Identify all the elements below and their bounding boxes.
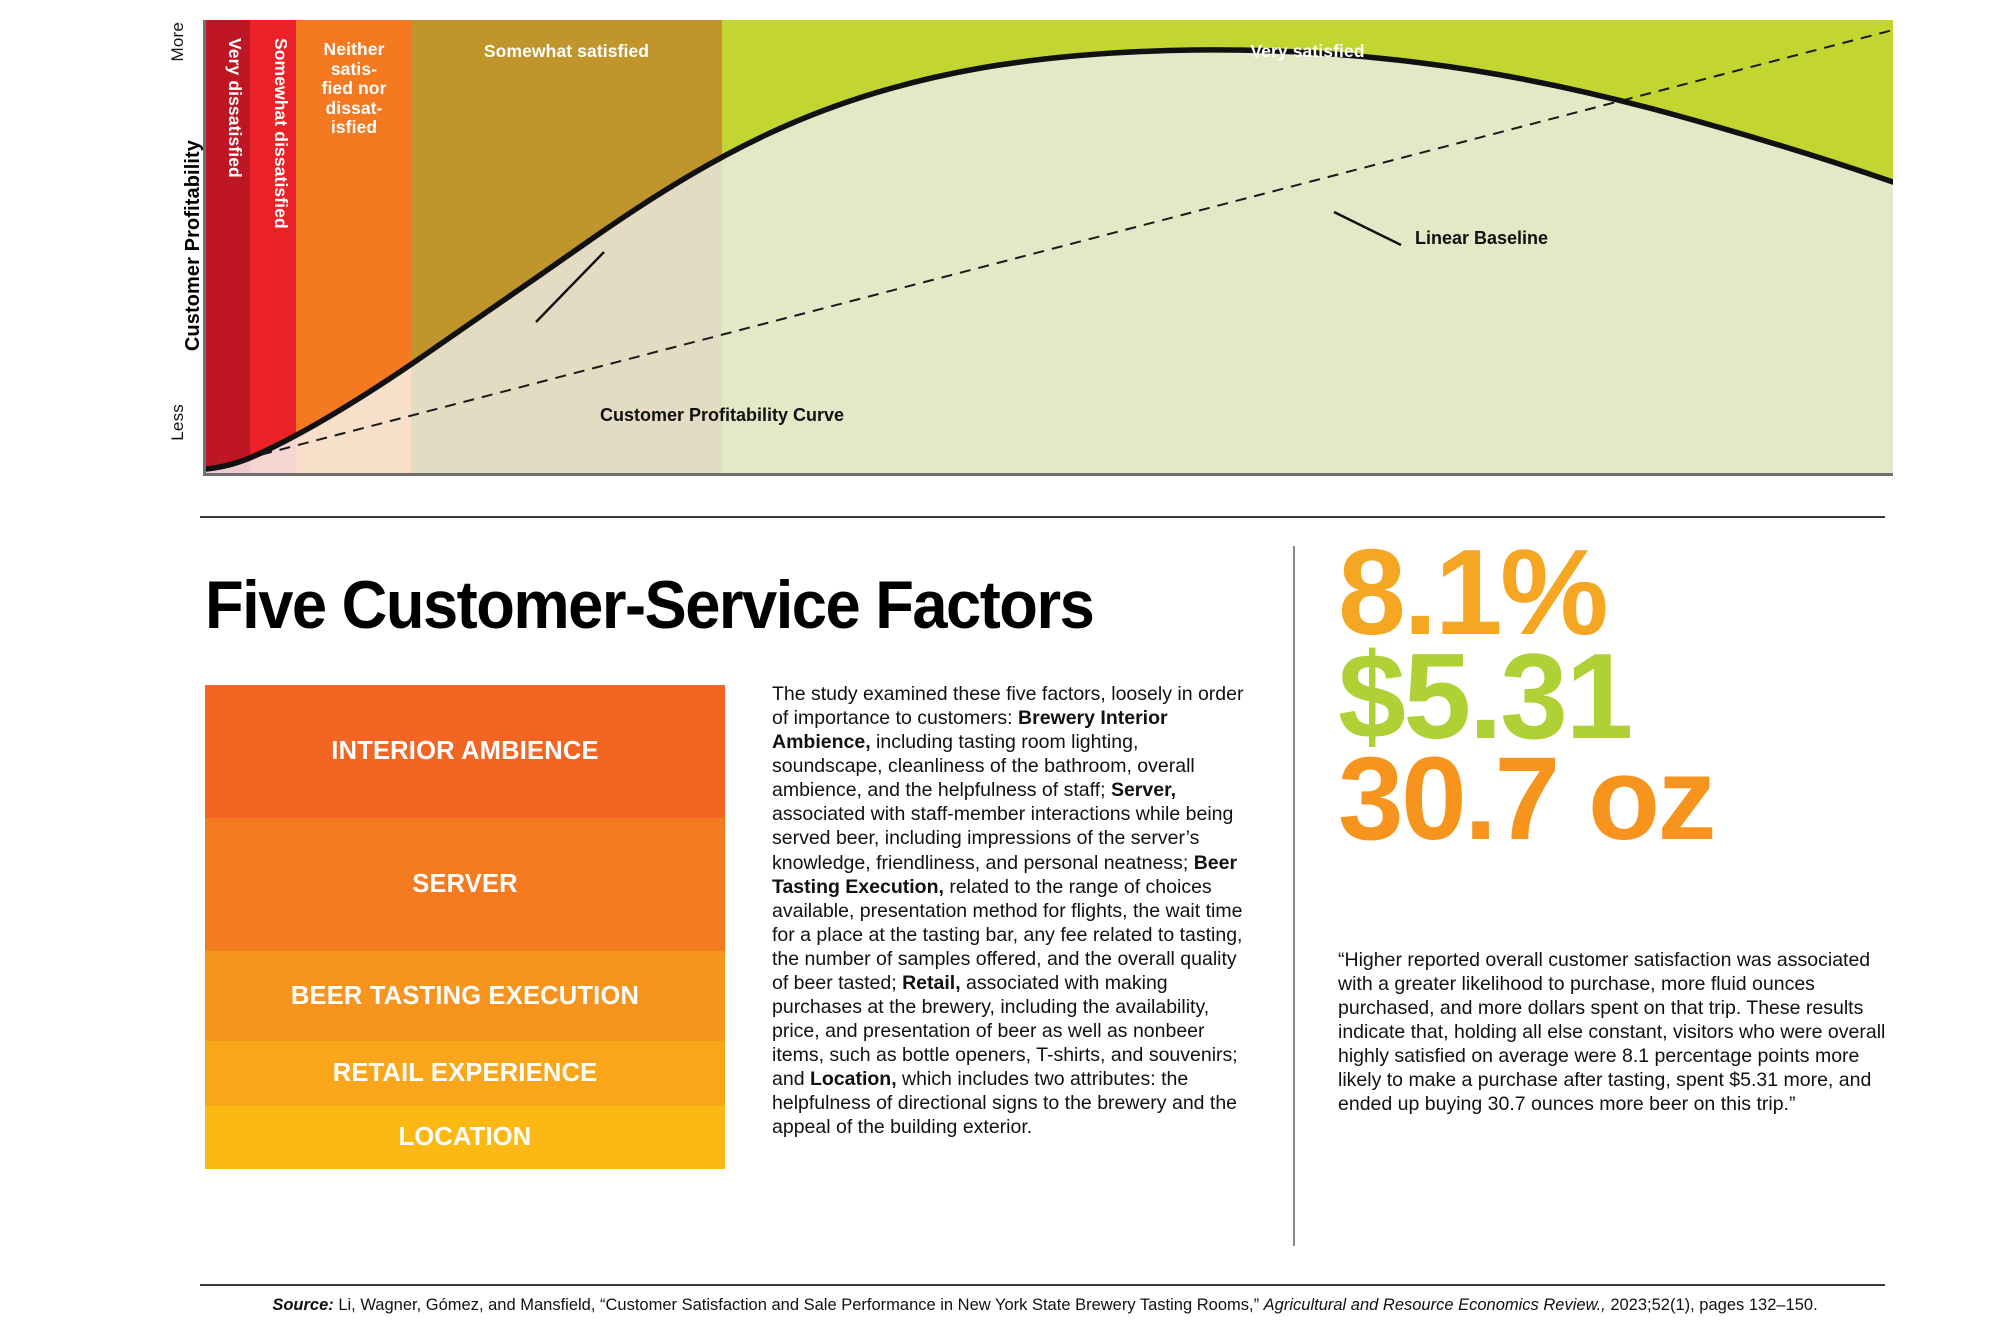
factor-bar-stack: INTERIOR AMBIENCE SERVER BEER TASTING EX… (205, 685, 725, 1169)
factor-label: BEER TASTING EXECUTION (291, 982, 639, 1011)
key-statistics: 8.1% $5.31 30.7 oz (1338, 540, 1958, 849)
body-copy: The study examined these five factors, l… (772, 682, 1252, 1139)
stat-ounces: 30.7 oz (1338, 749, 1958, 850)
band-very-dissatisfied (206, 20, 250, 473)
factor-label: RETAIL EXPERIENCE (333, 1059, 598, 1088)
infographic-page: More Less Customer Profitability (0, 0, 2000, 1333)
factor-bar-beer-tasting-execution[interactable]: BEER TASTING EXECUTION (205, 951, 725, 1041)
profitability-chart: More Less Customer Profitability (0, 0, 2000, 500)
divider-above-source (200, 1284, 1885, 1286)
chart-plot-area: Very dissatisfied Somewhat dissatisfied … (206, 20, 1893, 473)
y-axis-top-label: More (168, 22, 188, 62)
chart-svg (206, 20, 1893, 473)
source-citation: Source: Li, Wagner, Gómez, and Mansfield… (200, 1296, 1890, 1315)
factor-bar-retail-experience[interactable]: RETAIL EXPERIENCE (205, 1041, 725, 1106)
factor-label: INTERIOR AMBIENCE (331, 737, 598, 766)
annotation-customer-profitability-curve: Customer Profitability Curve (600, 405, 844, 426)
vertical-divider (1293, 546, 1295, 1246)
factor-bar-interior-ambience[interactable]: INTERIOR AMBIENCE (205, 685, 725, 818)
divider-under-chart (200, 516, 1885, 518)
factor-bar-location[interactable]: LOCATION (205, 1106, 725, 1169)
band-somewhat-dissatisfied (250, 20, 296, 473)
factor-label: SERVER (412, 870, 518, 899)
factor-label: LOCATION (399, 1123, 532, 1152)
page-title: Five Customer-Service Factors (205, 566, 1093, 644)
lower-section: Five Customer-Service Factors INTERIOR A… (0, 530, 2000, 1330)
annotation-linear-baseline: Linear Baseline (1415, 228, 1548, 249)
y-axis-title: Customer Profitability (182, 140, 205, 351)
x-axis-line (203, 473, 1893, 476)
factor-bar-server[interactable]: SERVER (205, 818, 725, 951)
pull-quote: “Higher reported overall customer satisf… (1338, 948, 1893, 1117)
y-axis-bottom-label: Less (168, 404, 188, 441)
